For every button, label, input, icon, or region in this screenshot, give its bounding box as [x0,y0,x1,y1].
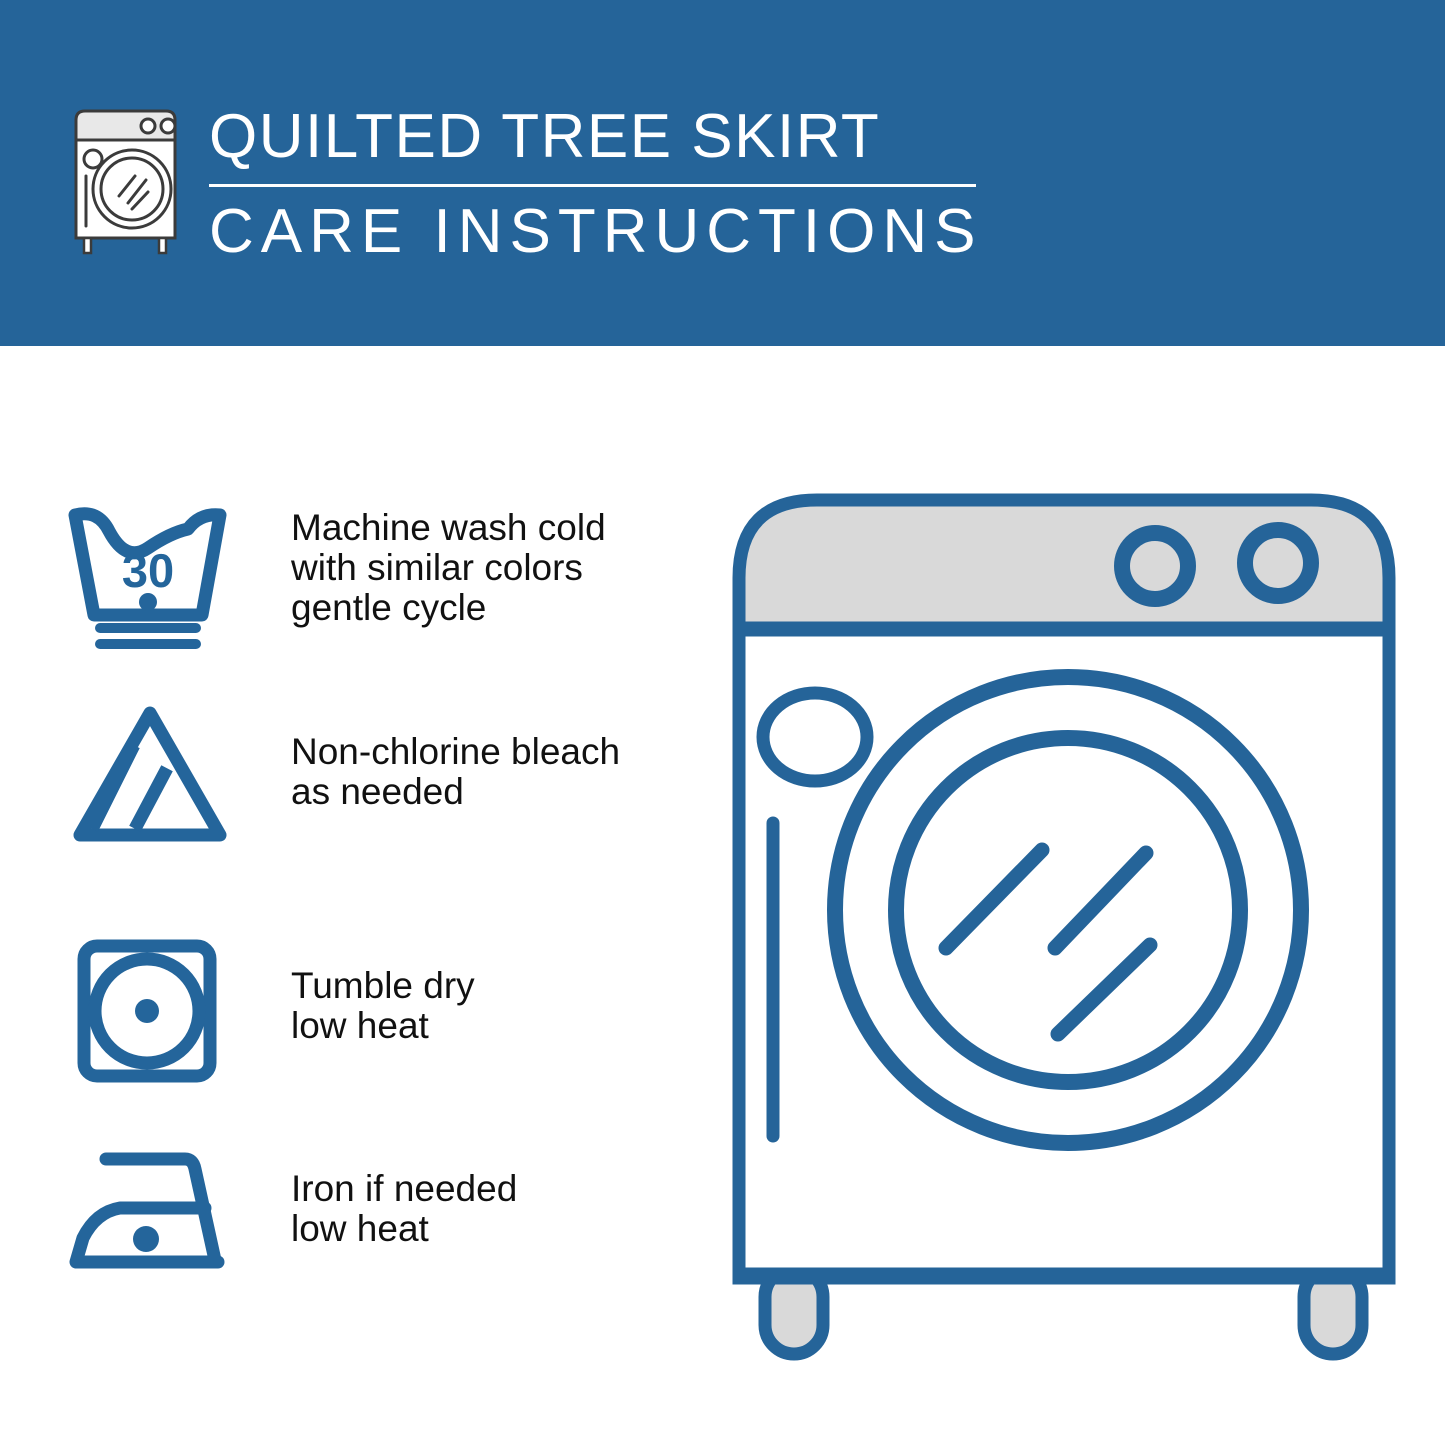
care-text-dry: Tumble dry low heat [291,966,691,1046]
title-divider [209,184,976,187]
care-line: as needed [291,772,691,812]
washing-machine-illustration [718,478,1408,1368]
bleach-triangle-icon [68,701,233,851]
iron-low-heat-icon [68,1146,233,1296]
svg-text:30: 30 [122,544,174,597]
washing-machine-logo-icon [62,104,184,256]
care-text-wash: Machine wash cold with similar colors ge… [291,508,691,628]
page-title: QUILTED TREE SKIRT [209,102,1009,172]
care-instruction-list: 30 Machine wash cold with similar colors… [0,346,700,1445]
header-band: QUILTED TREE SKIRT CARE INSTRUCTIONS [0,0,1445,346]
care-text-bleach: Non-chlorine bleach as needed [291,732,691,812]
wash-tub-30-icon: 30 [68,501,233,651]
care-line: Non-chlorine bleach [291,732,691,772]
care-instructions-page: QUILTED TREE SKIRT CARE INSTRUCTIONS 30 … [0,0,1445,1445]
care-line: gentle cycle [291,588,691,628]
page-subtitle: CARE INSTRUCTIONS [209,197,1009,267]
tumble-dry-low-icon [68,938,233,1088]
care-text-iron: Iron if needed low heat [291,1169,691,1249]
care-line: Tumble dry [291,966,691,1006]
care-line: with similar colors [291,548,691,588]
care-line: low heat [291,1006,691,1046]
care-line: Machine wash cold [291,508,691,548]
header-title-block: QUILTED TREE SKIRT CARE INSTRUCTIONS [209,102,1009,267]
care-line: low heat [291,1209,691,1249]
care-line: Iron if needed [291,1169,691,1209]
